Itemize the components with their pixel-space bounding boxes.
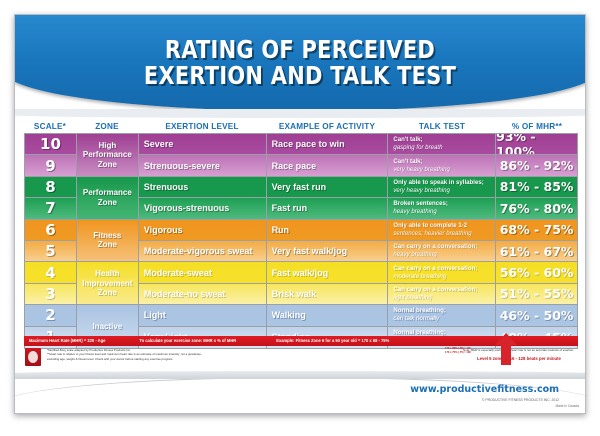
example-activity: Very fast run xyxy=(267,177,389,198)
zone-text: HealthImprovementZone xyxy=(82,269,132,297)
zone-text: PerformanceZone xyxy=(83,188,132,207)
header-exertion-level: EXERTION LEVEL xyxy=(138,122,266,133)
example-activity: Very fast walk/jog xyxy=(267,241,389,262)
scale-value: 3 xyxy=(25,284,77,305)
talk-test: Only able to complete 1-2sentences; heav… xyxy=(388,220,496,241)
exertion-level: Moderate-sweat xyxy=(139,262,267,283)
zone-label: PerformanceZone xyxy=(77,177,139,220)
zone-text: HighPerformanceZone xyxy=(83,141,132,169)
example-activity: Brisk walk xyxy=(267,284,389,305)
table-row: 2 Inactive Light Walking Normal breathin… xyxy=(25,305,578,326)
talk-line-2: gasping for breath xyxy=(393,144,442,152)
talk-test: Can't talk;gasping for breath xyxy=(388,134,496,155)
percent-mhr: 61% - 67% xyxy=(496,241,578,262)
example-activity: Race pace xyxy=(267,155,389,176)
example-activity: Fast walk/jog xyxy=(267,262,389,283)
zone-text: Inactive xyxy=(92,322,122,331)
copyright-text: © PRODUCTIVE FITNESS PRODUCTS INC. 2012 xyxy=(482,398,559,402)
header-example-activity: EXAMPLE OF ACTIVITY xyxy=(266,122,388,133)
fineprint-left: *Modified Borg scale adapted by Producti… xyxy=(41,348,202,361)
header-zone: ZONE xyxy=(76,122,138,133)
scale-value: 10 xyxy=(25,134,77,155)
title-line-2: EXERTION AND TALK TEST xyxy=(35,63,565,89)
talk-test: Normal breathing;can talk normally xyxy=(388,305,496,326)
exertion-level: Vigorous-strenuous xyxy=(139,198,267,219)
percent-mhr: 51% - 55% xyxy=(496,284,578,305)
scale-value: 7 xyxy=(25,198,77,219)
talk-line-1: Broken sentences; xyxy=(393,200,448,207)
percent-mhr: 86% - 92% xyxy=(496,155,578,176)
scale-value: 5 xyxy=(25,241,77,262)
bottom-swoosh xyxy=(14,377,586,414)
talk-line-1: Can't talk; xyxy=(393,158,422,165)
table-header-row: SCALE* ZONE EXERTION LEVEL EXAMPLE OF AC… xyxy=(24,115,578,133)
example-activity: Run xyxy=(267,220,389,241)
talk-line-2: sentences; heavier breathing xyxy=(393,230,471,238)
table-row: 6 FitnessZone Vigorous Run Only able to … xyxy=(25,220,578,241)
scale-value: 2 xyxy=(25,305,77,326)
header-percent-mhr: % OF MHR** xyxy=(496,122,578,133)
talk-line-2: light breathing xyxy=(393,294,477,302)
table-row: 8 PerformanceZone Strenuous Very fast ru… xyxy=(25,177,578,198)
example-activity: Race pace to win xyxy=(267,134,389,155)
made-in-text: Made in Canada xyxy=(556,404,579,408)
talk-line-2: can talk normally xyxy=(393,315,445,323)
scale-value: 6 xyxy=(25,220,77,241)
table-row: 4 HealthImprovementZone Moderate-sweat F… xyxy=(25,262,578,283)
talk-line-2: heavy breathing xyxy=(393,251,477,259)
talk-test: Can carry on a conversation;moderate bre… xyxy=(388,262,496,283)
page-title: RATING OF PERCEIVED EXERTION AND TALK TE… xyxy=(35,37,565,88)
talk-line-1: Only able to speak in syllables; xyxy=(393,179,483,186)
talk-test: Can't talk;very heavy breathing xyxy=(388,155,496,176)
legend-calc-lines: 170 x 68% (.68) = 116 170 x 75% (.75) = … xyxy=(445,347,471,355)
example-activity: Fast run xyxy=(267,198,389,219)
zone-label: FitnessZone xyxy=(77,220,139,263)
percent-mhr: 76% - 80% xyxy=(496,198,578,219)
percent-mhr: 68% - 75% xyxy=(496,220,578,241)
scale-value: 4 xyxy=(25,262,77,283)
header-talk-test: TALK TEST xyxy=(388,122,496,133)
header-scale: SCALE* xyxy=(24,122,76,133)
talk-line-1: Only able to complete 1-2 xyxy=(393,222,467,229)
exertion-level: Strenuous xyxy=(139,177,267,198)
percent-mhr: 56% - 60% xyxy=(496,262,578,283)
example-activity: Walking xyxy=(267,305,389,326)
talk-line-1: Normal breathing; xyxy=(393,307,445,314)
legend-result: Level 5 zone = 116 - 128 beats per minut… xyxy=(477,356,561,361)
zone-text: FitnessZone xyxy=(93,231,121,250)
percent-mhr: 81% - 85% xyxy=(496,177,578,198)
talk-test: Can carry on a conversation;light breath… xyxy=(388,284,496,305)
rpe-table: SCALE* ZONE EXERTION LEVEL EXAMPLE OF AC… xyxy=(24,115,578,349)
talk-line-2: very heavy breathing xyxy=(393,166,450,174)
talk-line-2: heavy breathing xyxy=(393,208,448,216)
up-arrow-icon xyxy=(495,333,517,363)
scale-value: 9 xyxy=(25,155,77,176)
talk-line-1: Can carry on a conversation; xyxy=(393,243,477,250)
exertion-level: Vigorous xyxy=(139,220,267,241)
poster: RATING OF PERCEIVED EXERTION AND TALK TE… xyxy=(14,14,586,414)
scale-value: 8 xyxy=(25,177,77,198)
title-line-1: RATING OF PERCEIVED xyxy=(35,37,565,63)
talk-line-1: Can't talk; xyxy=(393,136,422,143)
exertion-level: Light xyxy=(139,305,267,326)
talk-line-1: Can carry on a conversation; xyxy=(393,286,477,293)
brand-logo-icon xyxy=(25,348,41,366)
exertion-level: Severe xyxy=(139,134,267,155)
arrow-shaft xyxy=(501,343,511,365)
website-link[interactable]: www.productivefitness.com xyxy=(410,384,559,395)
exertion-level: Moderate-vigorous sweat xyxy=(139,241,267,262)
talk-line-2: very heavy breathing xyxy=(393,187,483,195)
talk-line-1: Can carry on a conversation; xyxy=(393,265,477,272)
talk-test: Can carry on a conversation;heavy breath… xyxy=(388,241,496,262)
table-row: 10 HighPerformanceZone Severe Race pace … xyxy=(25,134,578,155)
mhr-formula: Maximum Heart Rate (MHR) = 220 - Age xyxy=(24,338,105,343)
zone-label: HighPerformanceZone xyxy=(77,134,139,177)
table-body: 10 HighPerformanceZone Severe Race pace … xyxy=(24,133,578,349)
zone-label: HealthImprovementZone xyxy=(77,262,139,305)
percent-mhr: 93% - 100% xyxy=(496,134,578,155)
mhr-calculate-instruction: To calculate your exercise zone: MHR x %… xyxy=(105,338,236,343)
talk-line-2: moderate breathing xyxy=(393,273,477,281)
talk-test: Only able to speak in syllables;very hea… xyxy=(388,177,496,198)
percent-mhr: 46% - 50% xyxy=(496,305,578,326)
mhr-example: Example: Fitness Zone 6 for a 50 year ol… xyxy=(236,338,389,343)
exertion-level: Moderate-no sweat xyxy=(139,284,267,305)
talk-test: Broken sentences;heavy breathing xyxy=(388,198,496,219)
exertion-level: Strenuous-severe xyxy=(139,155,267,176)
